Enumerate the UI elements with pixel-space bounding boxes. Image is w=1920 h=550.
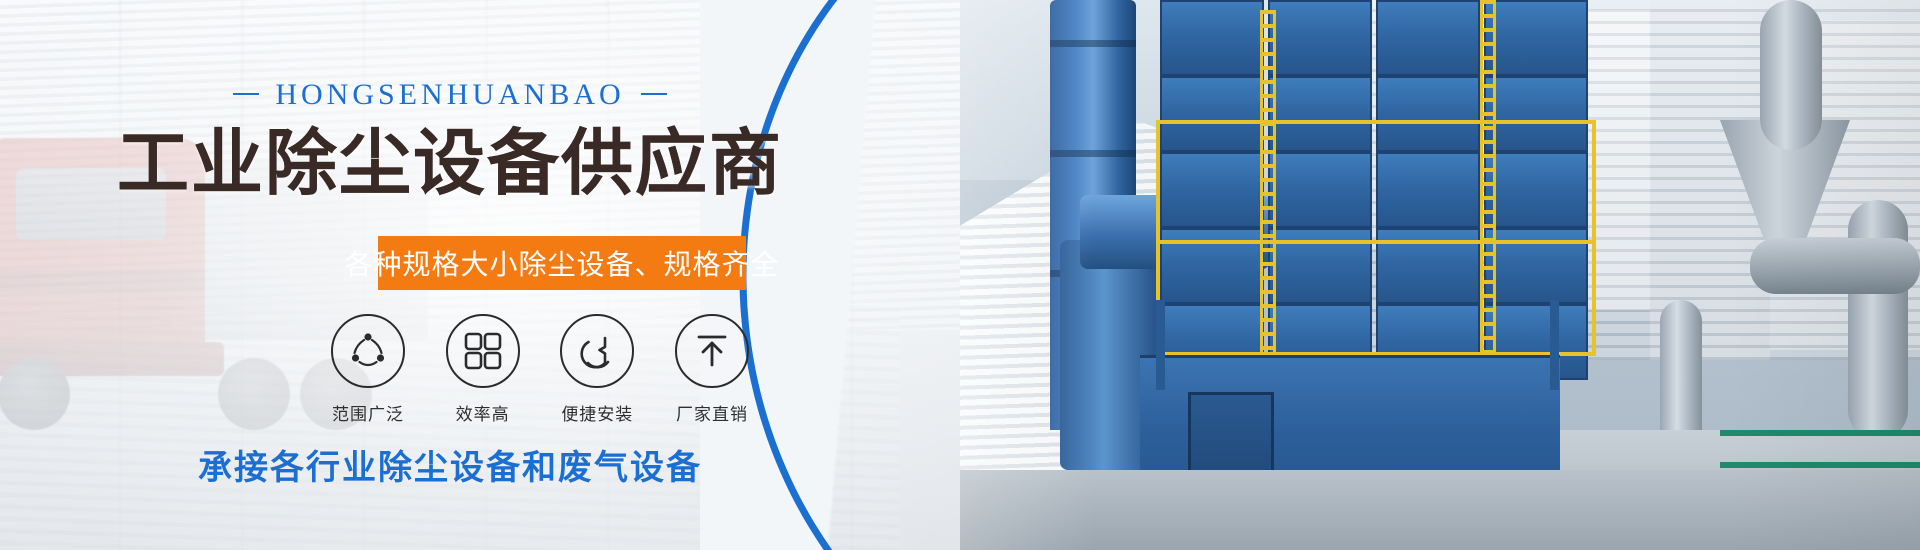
sub-banner-text: 各种规格大小除尘设备、规格齐全 (345, 243, 780, 283)
yellow-handrail-post-2 (1592, 120, 1596, 355)
feature-label: 厂家直销 (664, 400, 760, 425)
baghouse-cell (1484, 0, 1588, 76)
green-railing-top (1720, 430, 1920, 436)
eyebrow-dash-right (641, 93, 667, 95)
feature-item-installation[interactable]: 便捷安装 (549, 314, 645, 425)
eyebrow-dash-left (233, 93, 259, 95)
feature-item-factory-direct[interactable]: 厂家直销 (664, 314, 760, 425)
feature-item-range[interactable]: 范围广泛 (320, 314, 416, 425)
hero-tagline: 承接各行业除尘设备和废气设备 (0, 440, 900, 489)
grid-squares-icon (446, 314, 520, 388)
feature-list: 范围广泛 效率高 (320, 314, 760, 425)
feature-label: 范围广泛 (320, 400, 416, 425)
feature-item-efficiency[interactable]: 效率高 (435, 314, 531, 425)
metal-duct-horizontal (1750, 238, 1920, 294)
wrench-cycle-icon (560, 314, 634, 388)
feature-label: 效率高 (435, 400, 531, 425)
support-leg-2 (1550, 300, 1559, 390)
feature-label: 便捷安装 (549, 400, 645, 425)
hero-text-content: HONGSENHUANBAO 工业除尘设备供应商 各种规格大小除尘设备、规格齐全 (0, 0, 960, 550)
metal-duct-vertical-1 (1760, 0, 1822, 150)
metal-duct-vertical-2 (1848, 200, 1908, 440)
page-title: 工业除尘设备供应商 (0, 104, 900, 209)
share-nodes-icon (331, 314, 405, 388)
baghouse-cell (1484, 76, 1588, 152)
hero-banner: HONGSENHUANBAO 工业除尘设备供应商 各种规格大小除尘设备、规格齐全 (0, 0, 1920, 550)
green-railing-bottom (1720, 462, 1920, 468)
arrow-up-bar-icon (675, 314, 749, 388)
sub-banner-orange: 各种规格大小除尘设备、规格齐全 (378, 236, 746, 290)
